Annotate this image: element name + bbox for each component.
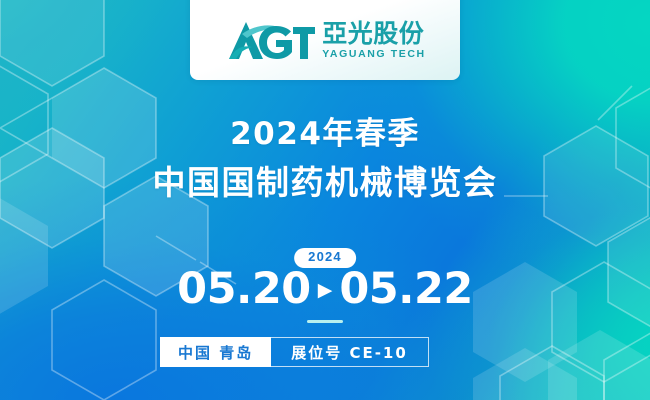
logo-company-cn: 亞光股份 (322, 21, 425, 46)
logo-company-en: YAGUANG TECH (322, 49, 425, 60)
arrow-right-icon: ▶ (318, 281, 333, 300)
company-logo-card: 亞光股份 YAGUANG TECH (190, 0, 460, 80)
event-title-block: 2024年春季 中国国制药机械博览会 (0, 116, 650, 203)
event-title-season: 2024年春季 (0, 116, 650, 153)
logo-wordmark: 亞光股份 YAGUANG TECH (322, 21, 425, 60)
logo-inner: 亞光股份 YAGUANG TECH (224, 18, 425, 62)
event-title-main: 中国国制药机械博览会 (0, 164, 650, 203)
venue-info-bar: 中国 青岛 展位号 CE-10 (160, 337, 429, 367)
date-underline-divider (307, 320, 343, 323)
event-date-end: 05.22 (339, 268, 473, 311)
agt-logo-icon (224, 19, 316, 63)
venue-location: 中国 青岛 (160, 337, 271, 367)
venue-booth-number: 展位号 CE-10 (271, 337, 429, 367)
event-date-start: 05.20 (177, 268, 311, 311)
event-date-range: 05.20 ▶ 05.22 (0, 268, 650, 311)
exhibition-banner: 亞光股份 YAGUANG TECH 2024年春季 中国国制药机械博览会 202… (0, 0, 650, 400)
